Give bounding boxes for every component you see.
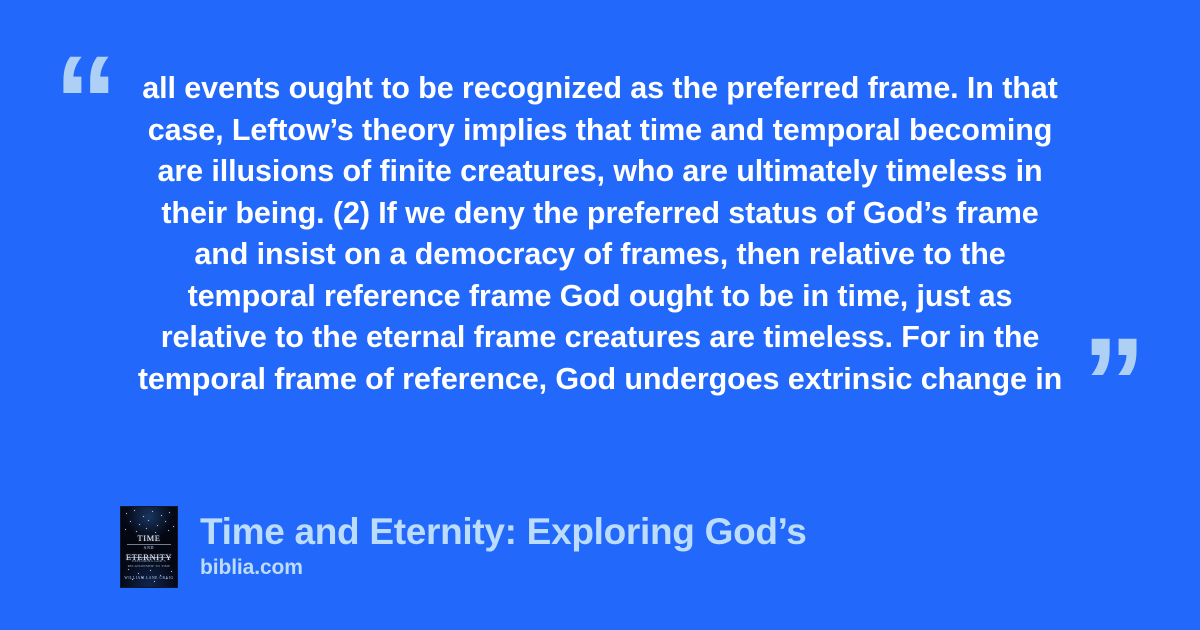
cover-title: TIME AND ETERNITY [121, 534, 177, 562]
quote-line: all events ought to be recognized as the… [60, 68, 1140, 110]
site-name: biblia.com [200, 556, 807, 580]
book-cover-thumbnail: TIME AND ETERNITY EXPLORING GOD’S RELATI… [120, 506, 178, 588]
cover-subtitle: EXPLORING GOD’S RELATIONSHIP TO TIME [125, 559, 173, 568]
quote-line: and insist on a democracy of frames, the… [60, 234, 1140, 276]
attribution: TIME AND ETERNITY EXPLORING GOD’S RELATI… [120, 506, 807, 588]
cover-rule-bottom [127, 557, 171, 558]
cover-subtitle-line-2: RELATIONSHIP TO TIME [128, 564, 171, 568]
quote-line: are illusions of finite creatures, who a… [60, 151, 1140, 193]
cover-author: WILLIAM LANE CRAIG [121, 576, 177, 580]
closing-quote-mark: ” [1082, 320, 1144, 448]
cover-subtitle-line-1: EXPLORING GOD’S [132, 559, 166, 563]
attribution-text: Time and Eternity: Exploring God’s bibli… [200, 506, 807, 580]
quote-line: relative to the eternal frame creatures … [60, 317, 1140, 359]
quote-line: case, Leftow’s theory implies that time … [60, 110, 1140, 152]
quote-line: temporal reference frame God ought to be… [60, 276, 1140, 318]
quote-line: temporal frame of reference, God undergo… [60, 359, 1140, 401]
cover-title-line-1: TIME [137, 533, 160, 543]
quote-block: “ all events ought to be recognized as t… [60, 44, 1140, 424]
quote-card: “ all events ought to be recognized as t… [0, 0, 1200, 630]
quote-line: their being. (2) If we deny the preferre… [60, 193, 1140, 235]
quote-text: all events ought to be recognized as the… [60, 68, 1140, 400]
book-title: Time and Eternity: Exploring God’s [200, 512, 807, 552]
